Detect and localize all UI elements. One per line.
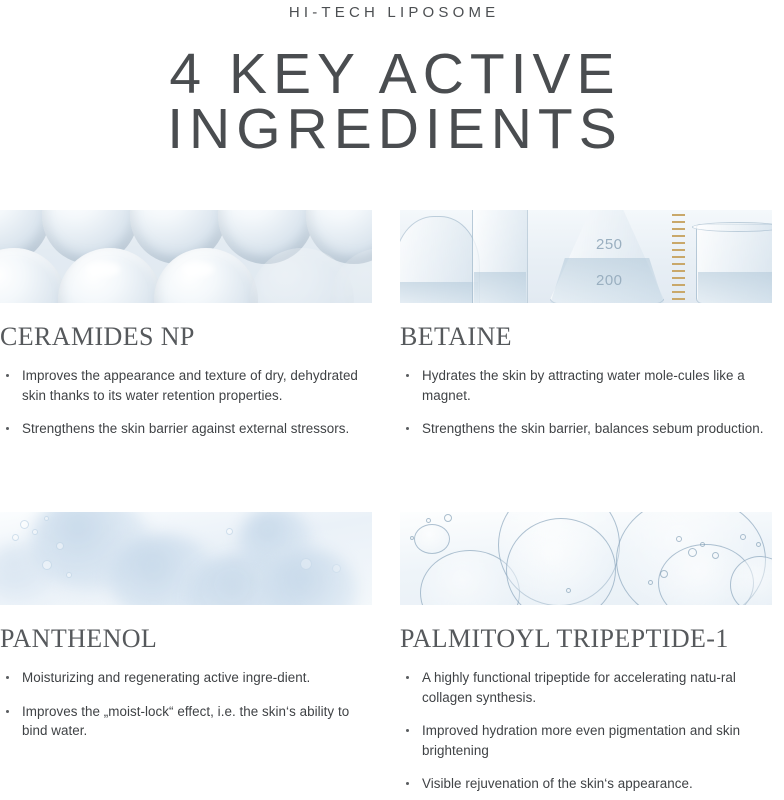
list-item: Improved hydration more even pigmentatio… bbox=[400, 721, 772, 760]
page-title-line-2: INGREDIENTS bbox=[0, 102, 784, 157]
page-title: 4 KEY ACTIVE INGREDIENTS bbox=[0, 47, 784, 157]
list-item: A highly functional tripeptide for accel… bbox=[400, 668, 772, 707]
list-item: Strengthens the skin barrier, balances s… bbox=[400, 419, 772, 439]
card-title: BETAINE bbox=[400, 322, 772, 352]
list-item: Moisturizing and regenerating active ing… bbox=[0, 668, 372, 688]
graduation-label-250: 250 bbox=[596, 236, 623, 253]
card-title: PALMITOYL TRIPEPTIDE-1 bbox=[400, 624, 772, 654]
ingredients-infographic: HI-TECH LIPOSOME 4 KEY ACTIVE INGREDIENT… bbox=[0, 0, 784, 800]
ingredient-card-palmitoyl-tripeptide-1: PALMITOYL TRIPEPTIDE-1 A highly function… bbox=[400, 512, 772, 794]
ingredient-card-betaine: 250 200 BETAINE Hydrates the skin by att… bbox=[400, 210, 772, 439]
glass-spheres-liposomes-image bbox=[0, 210, 372, 303]
eyebrow-label: HI-TECH LIPOSOME bbox=[0, 4, 784, 21]
laboratory-glassware-image: 250 200 bbox=[400, 210, 772, 303]
benefit-list: Improves the appearance and texture of d… bbox=[0, 366, 372, 439]
ingredient-grid: CERAMIDES NP Improves the appearance and… bbox=[0, 210, 784, 800]
list-item: Improves the „moist-lock“ effect, i.e. t… bbox=[0, 702, 372, 741]
card-title: CERAMIDES NP bbox=[0, 322, 372, 352]
bubble-outlines-image bbox=[400, 512, 772, 605]
ingredient-card-ceramides-np: CERAMIDES NP Improves the appearance and… bbox=[0, 210, 372, 439]
list-item: Hydrates the skin by attracting water mo… bbox=[400, 366, 772, 405]
page-title-line-1: 4 KEY ACTIVE bbox=[0, 47, 784, 102]
soft-foam-blobs-image bbox=[0, 512, 372, 605]
graduated-cylinder-scale bbox=[672, 214, 685, 303]
card-title: PANTHENOL bbox=[0, 624, 372, 654]
benefit-list: Moisturizing and regenerating active ing… bbox=[0, 668, 372, 741]
list-item: Strengthens the skin barrier against ext… bbox=[0, 419, 372, 439]
graduation-label-200: 200 bbox=[596, 272, 623, 289]
ingredient-card-panthenol: PANTHENOL Moisturizing and regenerating … bbox=[0, 512, 372, 741]
list-item: Improves the appearance and texture of d… bbox=[0, 366, 372, 405]
list-item: Visible rejuvenation of the skin‘s appea… bbox=[400, 774, 772, 794]
benefit-list: A highly functional tripeptide for accel… bbox=[400, 668, 772, 794]
benefit-list: Hydrates the skin by attracting water mo… bbox=[400, 366, 772, 439]
